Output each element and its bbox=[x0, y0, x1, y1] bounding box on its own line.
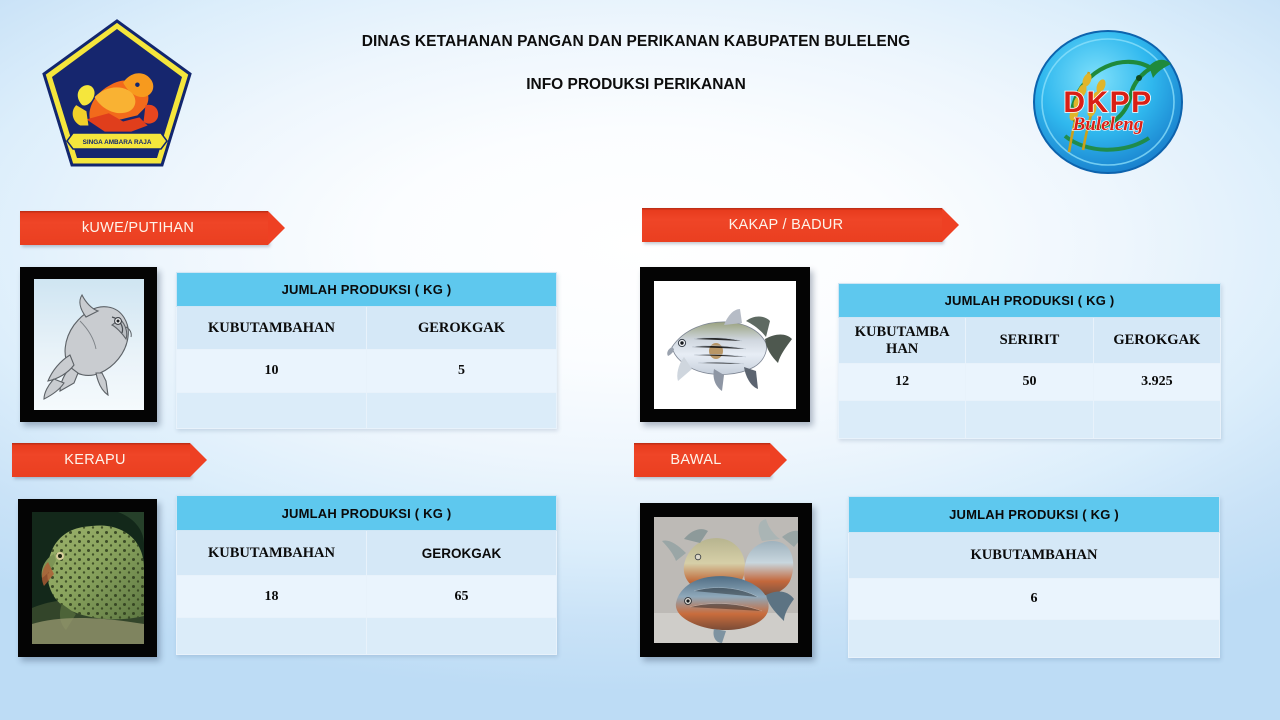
emblem-motto-text: SINGA AMBARA RAJA bbox=[83, 139, 152, 146]
page-subtitle: INFO PRODUKSI PERIKANAN bbox=[246, 76, 1026, 94]
banner-kerapu[interactable]: KERAPU bbox=[12, 443, 190, 477]
table-header-row: KUBUTAMBA HAN SERIRIT GEROKGAK bbox=[839, 318, 1221, 364]
table-kerapu: JUMLAH PRODUKSI ( KG ) KUBUTAMBAHAN GERO… bbox=[176, 495, 557, 655]
cell-value: 65 bbox=[367, 576, 557, 618]
pomfret-fish-icon bbox=[654, 517, 798, 643]
banner-label: KERAPU bbox=[64, 452, 125, 468]
table-header-row: KUBUTAMBAHAN GEROKGAK bbox=[177, 531, 557, 576]
banner-label: kUWE/PUTIHAN bbox=[82, 220, 194, 236]
banner-kuwe[interactable]: kUWE/PUTIHAN bbox=[20, 211, 268, 245]
cell-empty bbox=[177, 618, 367, 655]
table-kuwe: JUMLAH PRODUKSI ( KG ) KUBUTAMBAHAN GERO… bbox=[176, 272, 557, 429]
cell-empty bbox=[1093, 401, 1220, 439]
cell-value: 18 bbox=[177, 576, 367, 618]
photo-frame-kuwe bbox=[20, 267, 157, 422]
table-row-empty bbox=[849, 620, 1220, 658]
cell-value: 50 bbox=[966, 364, 1093, 401]
cell-empty bbox=[367, 618, 557, 655]
column-header: KUBUTAMBAHAN bbox=[177, 531, 367, 576]
cell-value: 3.925 bbox=[1093, 364, 1220, 401]
table-bawal: JUMLAH PRODUKSI ( KG ) KUBUTAMBAHAN 6 bbox=[848, 496, 1220, 658]
page-title: DINAS KETAHANAN PANGAN DAN PERIKANAN KAB… bbox=[246, 33, 1026, 51]
banner-label: KAKAP / BADUR bbox=[729, 217, 844, 233]
dkpp-subscript: Buleleng bbox=[1072, 114, 1144, 135]
cell-empty bbox=[849, 620, 1220, 658]
column-header: KUBUTAMBAHAN bbox=[177, 307, 367, 350]
cell-value: 6 bbox=[849, 579, 1220, 620]
buleleng-emblem-icon: SINGA AMBARA RAJA bbox=[41, 17, 193, 177]
slide-canvas: DINAS KETAHANAN PANGAN DAN PERIKANAN KAB… bbox=[0, 0, 1280, 720]
table-row: 18 65 bbox=[177, 576, 557, 618]
column-header: GEROKGAK bbox=[1093, 318, 1220, 364]
table-caption: JUMLAH PRODUKSI ( KG ) bbox=[177, 496, 557, 531]
table-row: 10 5 bbox=[177, 350, 557, 393]
cell-empty bbox=[177, 393, 367, 429]
column-header: GEROKGAK bbox=[367, 531, 557, 576]
table-row-empty bbox=[839, 401, 1221, 439]
giant-trevally-icon bbox=[34, 279, 144, 410]
table-kakap: JUMLAH PRODUKSI ( KG ) KUBUTAMBA HAN SER… bbox=[838, 283, 1221, 439]
barramundi-icon bbox=[654, 281, 796, 409]
cell-empty bbox=[839, 401, 966, 439]
cell-value: 5 bbox=[367, 350, 557, 393]
banner-kakap[interactable]: KAKAP / BADUR bbox=[642, 208, 942, 242]
table-row-empty bbox=[177, 393, 557, 429]
grouper-icon bbox=[32, 512, 144, 644]
table-header-row: KUBUTAMBAHAN GEROKGAK bbox=[177, 307, 557, 350]
dkpp-logo-icon: DKPP Buleleng bbox=[1029, 28, 1187, 176]
table-caption: JUMLAH PRODUKSI ( KG ) bbox=[849, 497, 1220, 533]
column-header: SERIRIT bbox=[966, 318, 1093, 364]
cell-value: 10 bbox=[177, 350, 367, 393]
table-caption: JUMLAH PRODUKSI ( KG ) bbox=[839, 284, 1221, 318]
cell-value: 12 bbox=[839, 364, 966, 401]
table-header-row: KUBUTAMBAHAN bbox=[849, 533, 1220, 579]
photo-frame-kakap bbox=[640, 267, 810, 422]
photo-frame-kerapu bbox=[18, 499, 157, 657]
table-row: 12 50 3.925 bbox=[839, 364, 1221, 401]
column-header: KUBUTAMBA HAN bbox=[839, 318, 966, 364]
banner-label: BAWAL bbox=[670, 452, 721, 468]
column-header: GEROKGAK bbox=[367, 307, 557, 350]
cell-empty bbox=[367, 393, 557, 429]
table-row: 6 bbox=[849, 579, 1220, 620]
column-header: KUBUTAMBAHAN bbox=[849, 533, 1220, 579]
table-row-empty bbox=[177, 618, 557, 655]
cell-empty bbox=[966, 401, 1093, 439]
photo-frame-bawal bbox=[640, 503, 812, 657]
banner-bawal[interactable]: BAWAL bbox=[634, 443, 770, 477]
table-caption: JUMLAH PRODUKSI ( KG ) bbox=[177, 273, 557, 307]
